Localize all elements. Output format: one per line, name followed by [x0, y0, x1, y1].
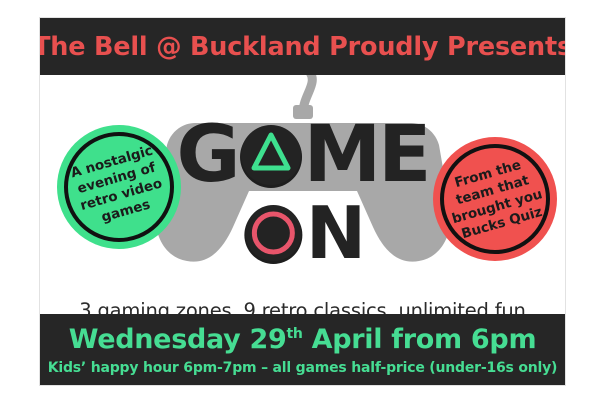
nostalgic-badge: A nostalgic evening of retro video games: [57, 125, 181, 249]
poster-header-title: The Bell @ Buckland Proudly Presents: [40, 32, 565, 62]
event-date-suffix: April from 6pm: [303, 324, 537, 355]
header-band: The Bell @ Buckland Proudly Presents: [40, 18, 565, 75]
footer-band: Wednesday 29th April from 6pm Kids’ happ…: [40, 314, 565, 385]
event-date-ordinal: th: [286, 326, 302, 342]
controller-body-icon: [155, 123, 450, 262]
controller-cable-base-icon: [293, 105, 313, 119]
bucks-quiz-badge: From the team that brought you Bucks Qui…: [433, 137, 557, 261]
event-date-line: Wednesday 29th April from 6pm: [69, 324, 537, 356]
event-date-prefix: Wednesday 29: [69, 324, 287, 355]
event-poster: The Bell @ Buckland Proudly Presents G: [40, 18, 565, 385]
poster-stage: G ME N: [40, 75, 565, 313]
kids-happy-hour-note: Kids’ happy hour 6pm-7pm – all games hal…: [48, 360, 558, 376]
game-controller-icon: [153, 75, 453, 290]
